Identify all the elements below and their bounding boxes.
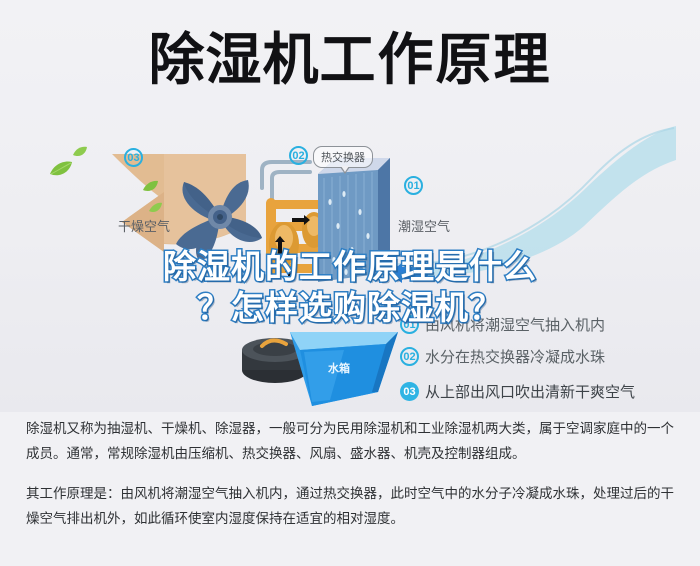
heat-exchanger-callout-label: 热交换器 [321,152,365,164]
diagram-badge-03: 03 [124,148,143,167]
diagram-badge-01: 01 [404,176,423,195]
overlay-title-line1: 除湿机的工作原理是什么 [163,248,537,285]
dehumidifier-article-page: 除湿机工作原理 [0,0,700,566]
step-text-02: 水分在热交换器冷凝成水珠 [425,346,605,367]
page-title-part1: 除湿机 [149,28,320,91]
water-tank-label: 水箱 [328,360,350,376]
list-item: 02 水分在热交换器冷凝成水珠 [400,346,700,367]
humid-air-label: 潮湿空气 [398,216,450,235]
leaf-icon [48,160,74,180]
article-paragraph-1: 除湿机又称为抽湿机、干燥机、除湿器，一般可分为民用除湿机和工业除湿机两大类，属于… [26,416,674,466]
overlay-title-line2: ？怎样选购除湿机？ [0,287,700,328]
step-badge-03: 03 [400,382,419,401]
step-badge-02: 02 [400,347,419,366]
overlay-title: 除湿机的工作原理是什么 ？怎样选购除湿机？ [0,246,700,328]
article-body: 除湿机又称为抽湿机、干燥机、除湿器，一般可分为民用除湿机和工业除湿机两大类，属于… [0,416,700,537]
leaf-icon [142,180,159,194]
step-list: 01 由风机将潮湿空气抽入机内 02 水分在热交换器冷凝成水珠 03 从上部出风… [400,314,700,412]
leaf-icon [72,146,88,159]
list-item: 03 从上部出风口吹出清新干爽空气 [400,381,700,402]
paragraph-spacer [26,472,674,481]
step-text-03: 从上部出风口吹出清新干爽空气 [425,381,635,402]
dry-air-label: 干燥空气 [118,216,170,235]
callout-tail-icon [340,167,350,174]
heat-exchanger-callout: 热交换器 [313,146,373,168]
page-title-part2: 工作原理 [320,28,552,91]
hero-banner: 除湿机工作原理 [0,0,700,412]
leaf-icon [148,202,163,215]
article-paragraph-2: 其工作原理是：由风机将潮湿空气抽入机内，通过热交换器，此时空气中的水分子冷凝成水… [26,481,674,531]
diagram-badge-02: 02 [289,146,308,165]
page-title: 除湿机工作原理 [0,28,700,92]
